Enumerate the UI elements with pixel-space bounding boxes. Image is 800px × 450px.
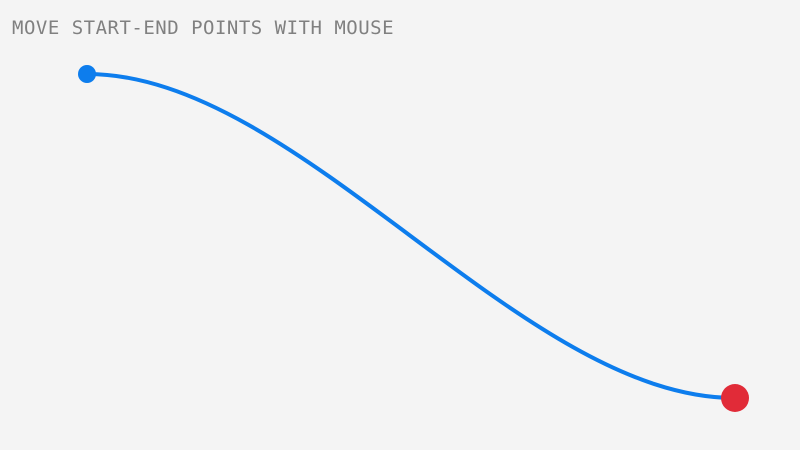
canvas-background [0, 0, 800, 450]
end-point-handle[interactable] [721, 384, 749, 412]
start-point-handle[interactable] [78, 65, 96, 83]
bezier-canvas[interactable] [0, 0, 800, 450]
page-title: MOVE START-END POINTS WITH MOUSE [12, 17, 394, 39]
canvas-stage[interactable]: MOVE START-END POINTS WITH MOUSE [0, 0, 800, 450]
